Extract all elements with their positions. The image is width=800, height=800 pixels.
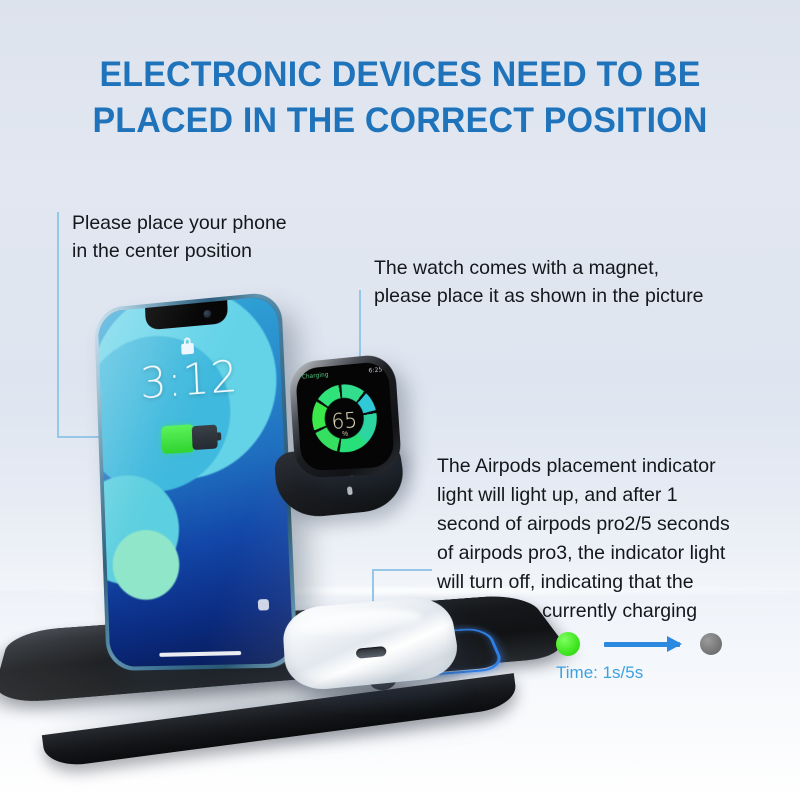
watch-status-label: Charging xyxy=(302,371,329,380)
usb-c-port-icon xyxy=(356,646,387,659)
indicator-light-on-icon xyxy=(556,632,580,656)
legend-label: Time: 1s/5s xyxy=(556,663,643,683)
watch-status-bar: Charging 6:25 xyxy=(302,366,383,380)
smartwatch-device: Charging 6:25 65 % xyxy=(288,358,406,482)
leader-line-airpods-horizontal xyxy=(372,569,432,571)
headline-line-1: ELECTRONIC DEVICES NEED TO BE xyxy=(12,52,788,98)
page-title: ELECTRONIC DEVICES NEED TO BE PLACED IN … xyxy=(12,52,788,144)
watch-body: Charging 6:25 65 % xyxy=(288,353,402,479)
callout-phone-line-2: in the center position xyxy=(72,237,342,265)
phone-glare xyxy=(94,291,298,671)
phone-device: 3:12 xyxy=(94,291,298,671)
callout-airpods-line-2: light will light up, and after 1 xyxy=(437,481,777,510)
callout-watch: The watch comes with a magnet, please pl… xyxy=(374,254,774,310)
callout-phone-line-1: Please place your phone xyxy=(72,209,342,237)
airpods-case-highlight xyxy=(298,605,424,639)
headline-line-2: PLACED IN THE CORRECT POSITION xyxy=(12,98,788,144)
callout-watch-line-2: please place it as shown in the picture xyxy=(374,282,774,310)
callout-airpods-line-5: will turn off, indicating that the xyxy=(437,568,777,597)
watch-clock: 6:25 xyxy=(368,366,382,374)
callout-airpods-line-1: The Airpods placement indicator xyxy=(437,452,777,481)
callout-airpods-line-3: second of airpods pro2/5 seconds xyxy=(437,510,777,539)
callout-watch-line-1: The watch comes with a magnet, xyxy=(374,254,774,282)
leader-line-phone-vertical xyxy=(57,212,59,437)
watch-band-hole xyxy=(347,486,353,495)
callout-airpods-line-4: of airpods pro3, the indicator light xyxy=(437,539,777,568)
callout-phone: Please place your phone in the center po… xyxy=(72,209,342,265)
arrow-right-icon xyxy=(604,642,680,647)
infographic-canvas: ELECTRONIC DEVICES NEED TO BE PLACED IN … xyxy=(0,0,800,800)
indicator-light-off-icon xyxy=(700,633,722,655)
indicator-light-legend: Time: 1s/5s xyxy=(556,632,726,692)
watch-screen: Charging 6:25 65 % xyxy=(295,361,395,472)
